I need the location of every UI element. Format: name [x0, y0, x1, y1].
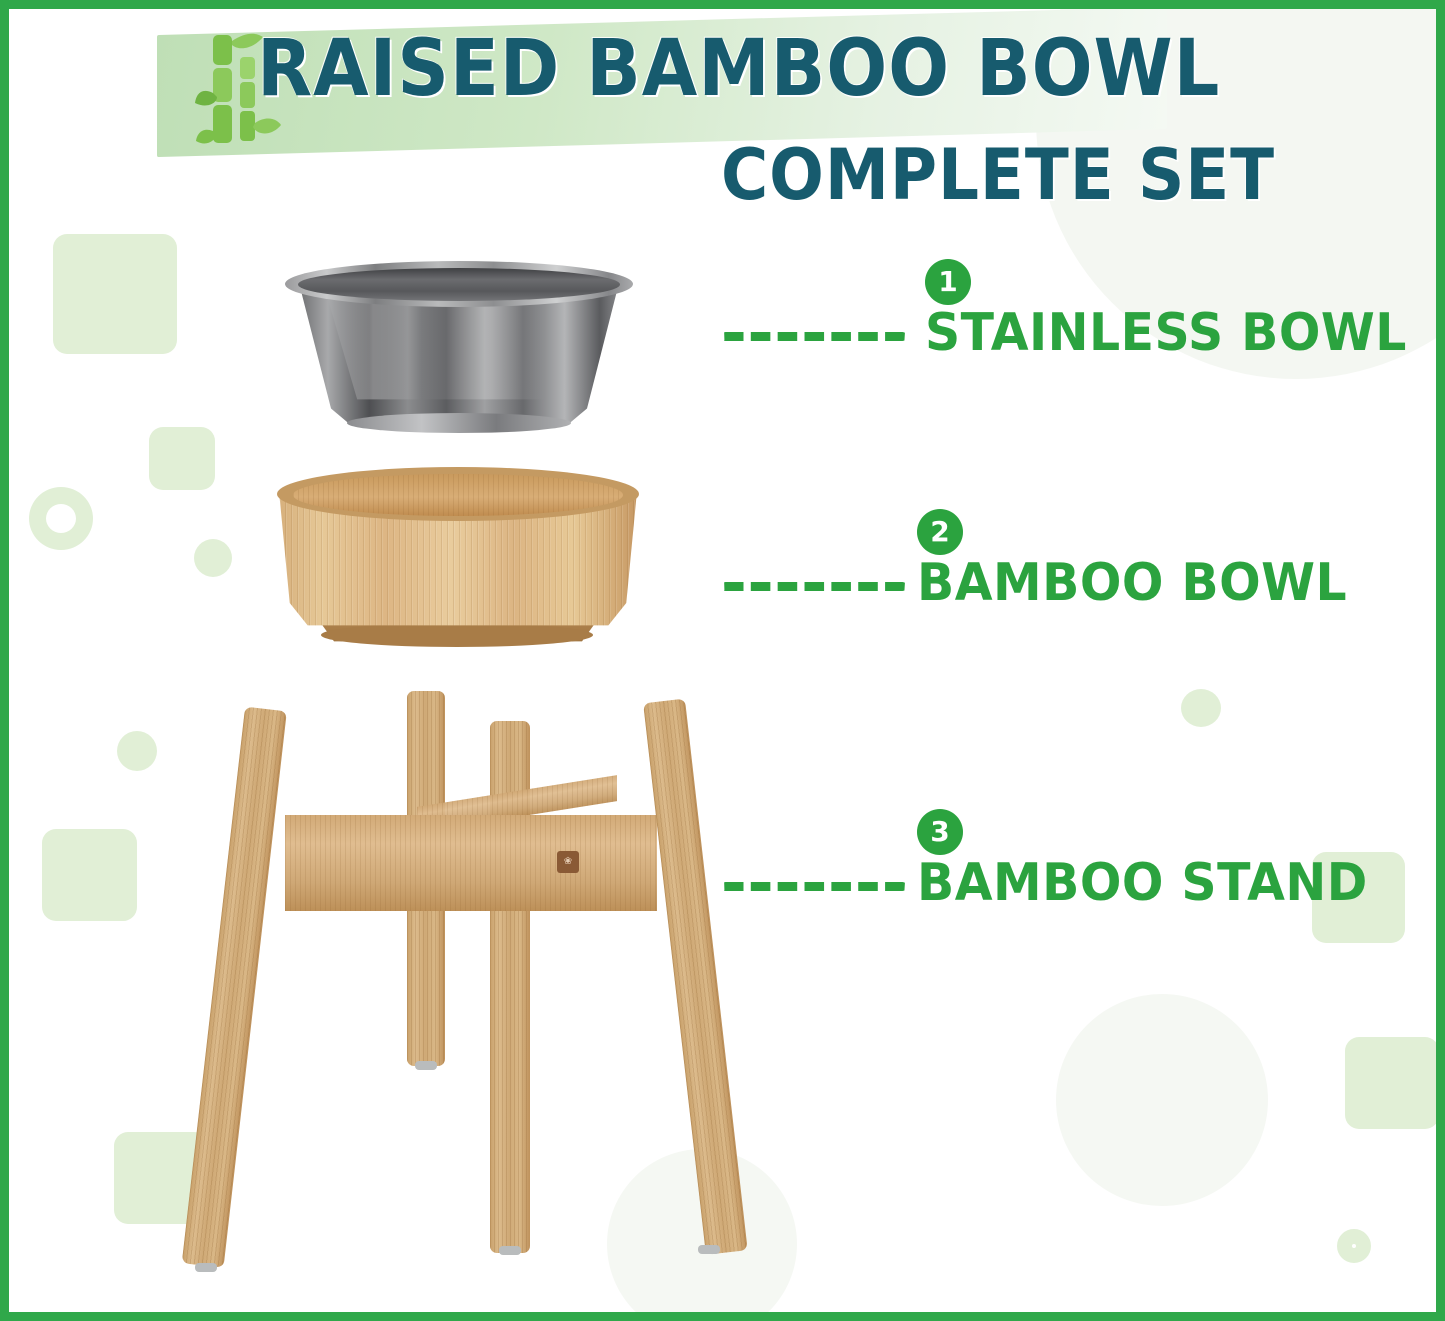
- bamboo-bowl-interior-grain: [293, 474, 623, 516]
- leader-line-2: [721, 582, 907, 591]
- brand-mark-glyph: ❀: [561, 856, 575, 868]
- stand-foot-back-right: [499, 1246, 521, 1255]
- step-badge-3: 3: [917, 809, 963, 855]
- bamboo-bowl-base-ellipse: [321, 623, 593, 647]
- rail-grain-front: [285, 815, 657, 911]
- decor-square-6: [1345, 1037, 1436, 1129]
- stand-foot-front-left: [195, 1263, 217, 1272]
- stand-foot-back-left: [415, 1061, 437, 1070]
- decor-square-1: [53, 234, 177, 354]
- bamboo-bowl-interior: [293, 474, 623, 516]
- decor-square-2: [149, 427, 215, 490]
- leader-line-3: [721, 882, 907, 891]
- leg-grain-front-right: [643, 699, 748, 1255]
- decor-ring-2: [1337, 1229, 1371, 1263]
- decor-circle-3: [101, 841, 137, 877]
- decor-circle-1: [194, 539, 232, 577]
- callout-bamboo-stand: 3 BAMBOO STAND: [721, 809, 1341, 929]
- stand-rail-front: [285, 815, 657, 911]
- leg-grain-front-left: [182, 707, 287, 1268]
- decor-circle-2: [117, 731, 157, 771]
- page-title-line-2: COMPLETE SET: [721, 133, 1275, 217]
- callout-label-2: BAMBOO BOWL: [917, 554, 1347, 612]
- product-infographic: RAISED BAMBOO BOWL COMPLETE SET 1 STAINL…: [0, 0, 1445, 1321]
- stand-leg-front-right: [643, 699, 748, 1255]
- infographic-canvas: RAISED BAMBOO BOWL COMPLETE SET 1 STAINL…: [9, 9, 1436, 1312]
- stand-foot-front-right: [698, 1245, 720, 1254]
- brand-logo-tag: ❀: [557, 851, 579, 873]
- decor-blob-bottom-right: [1056, 994, 1268, 1206]
- steel-bowl-sheen: [325, 289, 593, 409]
- callout-label-3: BAMBOO STAND: [917, 854, 1368, 912]
- bamboo-stand-image: ❀: [185, 673, 751, 1273]
- decor-ring-1: [29, 487, 93, 550]
- step-badge-1: 1: [925, 259, 971, 305]
- callout-label-1: STAINLESS BOWL: [925, 304, 1407, 362]
- step-badge-2: 2: [917, 509, 963, 555]
- decor-circle-4: [1181, 689, 1221, 727]
- page-title-line-1: RAISED BAMBOO BOWL: [257, 23, 1220, 115]
- callout-stainless-bowl: 1 STAINLESS BOWL: [721, 259, 1341, 379]
- header: RAISED BAMBOO BOWL COMPLETE SET: [9, 9, 1436, 224]
- stand-leg-front-left: [182, 707, 287, 1268]
- steel-bowl-base: [347, 413, 571, 433]
- callout-bamboo-bowl: 2 BAMBOO BOWL: [721, 509, 1341, 629]
- leader-line-1: [721, 332, 907, 341]
- bamboo-bowl-image: [277, 467, 639, 649]
- steel-bowl-interior: [298, 268, 620, 301]
- stainless-steel-bowl-image: [285, 261, 633, 433]
